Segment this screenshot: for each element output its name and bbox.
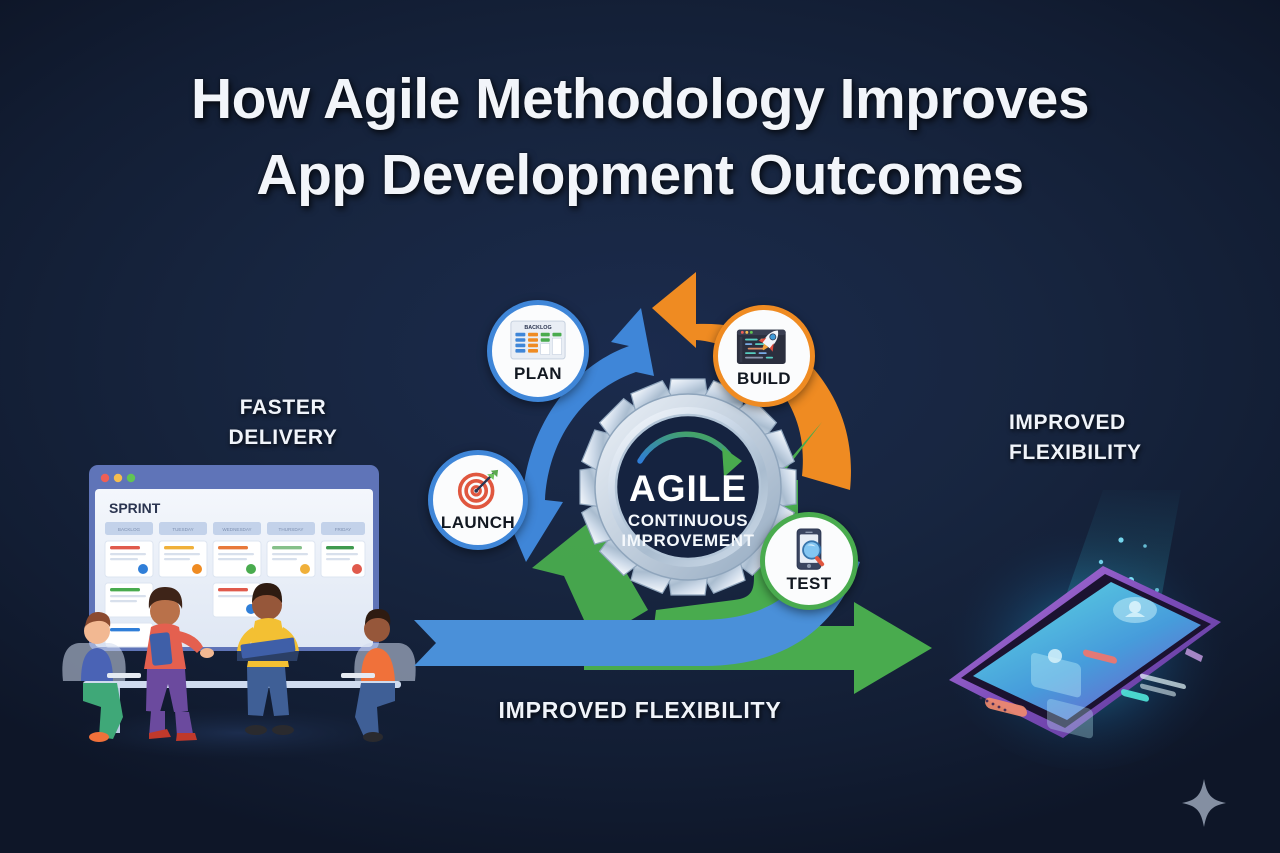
sprint-board-title: SPRINT [109, 500, 161, 516]
kanban-backlog-label: BACKLOG [524, 325, 551, 331]
svg-text:WEDNESDAY: WEDNESDAY [222, 527, 251, 532]
infographic-canvas: How Agile Methodology Improves App Devel… [0, 0, 1280, 853]
svg-text:BACKLOG: BACKLOG [118, 527, 141, 532]
holographic-phone-illustration [935, 470, 1235, 770]
sparkle-icon [1181, 778, 1227, 828]
caption-improved-flexibility: IMPROVED FLEXIBILITY [1009, 408, 1239, 468]
cycle-node-launch-label: LAUNCH [441, 513, 515, 533]
center-subline-1: CONTINUOUS [628, 511, 748, 530]
cycle-node-plan-label: PLAN [514, 364, 562, 384]
caption-right-line-1: IMPROVED [1009, 408, 1239, 438]
svg-text:THURSDAY: THURSDAY [279, 527, 304, 532]
svg-text:FRIDAY: FRIDAY [335, 527, 352, 532]
target-arrow-icon [450, 467, 506, 511]
cycle-node-launch[interactable]: LAUNCH [428, 450, 528, 550]
cycle-node-build[interactable]: BUILD [713, 305, 815, 407]
caption-right-line-2: FLEXIBILITY [1009, 438, 1239, 468]
title-line-1: How Agile Methodology Improves [191, 67, 1089, 131]
cycle-node-test[interactable]: TEST [760, 512, 858, 610]
cycle-node-plan[interactable]: BACKLOG PLAN [487, 300, 589, 402]
phone-magnifier-icon [781, 528, 837, 572]
code-editor-rocket-icon [736, 323, 792, 367]
svg-text:TUESDAY: TUESDAY [172, 527, 193, 532]
center-headline: AGILE [629, 468, 747, 509]
kanban-board-icon: BACKLOG [510, 318, 566, 362]
cycle-node-test-label: TEST [786, 574, 831, 594]
center-subline-2: IMPROVEMENT [621, 531, 754, 550]
title-line-2: App Development Outcomes [0, 138, 1280, 214]
cycle-node-build-label: BUILD [737, 369, 791, 389]
caption-faster-delivery: FASTER DELIVERY [178, 393, 388, 453]
sprint-board-window: SPRINT BACKLOGTUESDAY WEDNESDAYTHURSDAYF… [89, 465, 379, 651]
caption-left-line-1: FASTER [178, 393, 388, 423]
team-collaboration-illustration: SPRINT BACKLOGTUESDAY WEDNESDAYTHURSDAYF… [55, 445, 425, 765]
page-title: How Agile Methodology Improves App Devel… [0, 62, 1280, 214]
